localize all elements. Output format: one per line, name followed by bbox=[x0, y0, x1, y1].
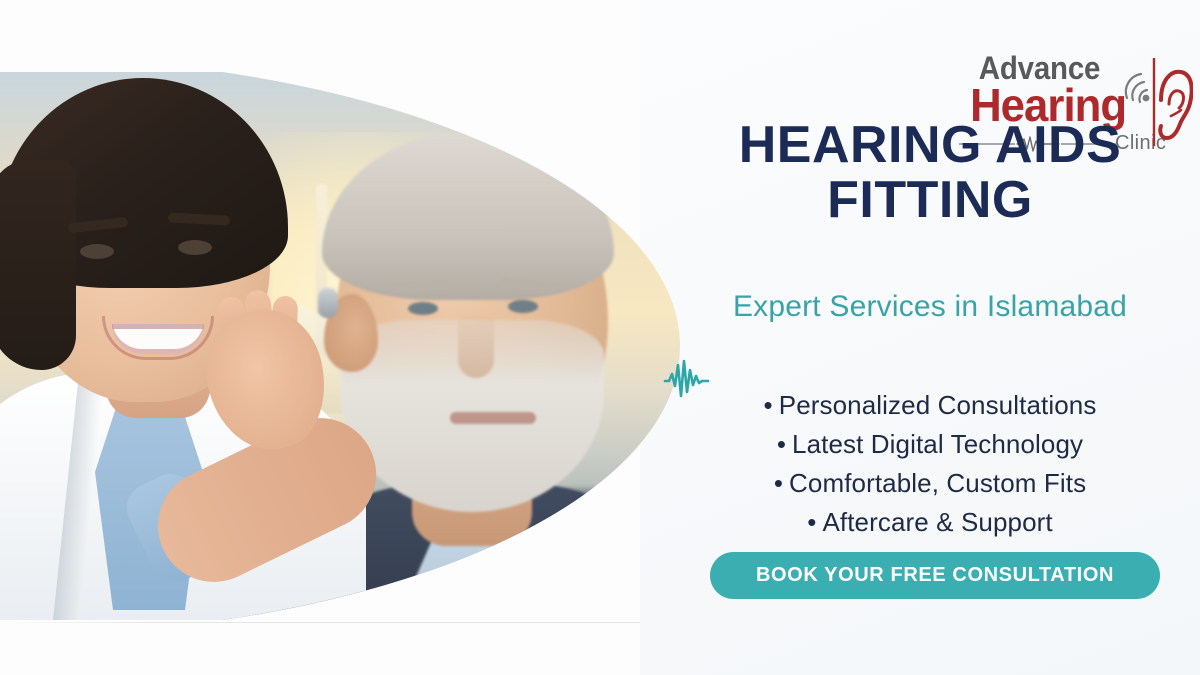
page-title: HEARING AIDS FITTING bbox=[660, 118, 1200, 228]
patient-eye bbox=[508, 300, 538, 313]
list-item-label: Comfortable, Custom Fits bbox=[789, 468, 1086, 498]
list-item: •Comfortable, Custom Fits bbox=[660, 464, 1200, 503]
book-consultation-button[interactable]: BOOK YOUR FREE CONSULTATION bbox=[710, 552, 1160, 599]
copy-column: Advance Hearing Clinic bbox=[660, 0, 1200, 675]
list-item: •Personalized Consultations bbox=[660, 386, 1200, 425]
hero-photo bbox=[0, 72, 690, 620]
list-item-label: Aftercare & Support bbox=[822, 507, 1052, 537]
patient-nose bbox=[458, 310, 494, 378]
patient-hair bbox=[322, 132, 614, 300]
audiologist bbox=[0, 72, 356, 620]
benefits-list: •Personalized Consultations •Latest Digi… bbox=[660, 386, 1200, 542]
patient-mouth bbox=[450, 412, 536, 424]
list-item-label: Latest Digital Technology bbox=[792, 429, 1083, 459]
doctor-eye bbox=[178, 240, 212, 255]
bullet-marker: • bbox=[774, 468, 783, 498]
audio-waveform-icon bbox=[663, 352, 719, 408]
hearing-aids-promo-banner: Advance Hearing Clinic bbox=[0, 0, 1200, 675]
doctor-hair-side bbox=[0, 160, 76, 370]
bullet-marker: • bbox=[807, 507, 816, 537]
bullet-marker: • bbox=[777, 429, 786, 459]
doctor-eye bbox=[80, 244, 114, 259]
patient-eye bbox=[408, 302, 438, 315]
list-item-label: Personalized Consultations bbox=[779, 390, 1097, 420]
bullet-marker: • bbox=[764, 390, 773, 420]
headline-line-2: FITTING bbox=[660, 173, 1200, 228]
headline-line-1: HEARING AIDS bbox=[739, 116, 1122, 174]
list-item: •Latest Digital Technology bbox=[660, 425, 1200, 464]
subtitle: Expert Services in Islamabad bbox=[660, 290, 1200, 324]
list-item: •Aftercare & Support bbox=[660, 503, 1200, 542]
